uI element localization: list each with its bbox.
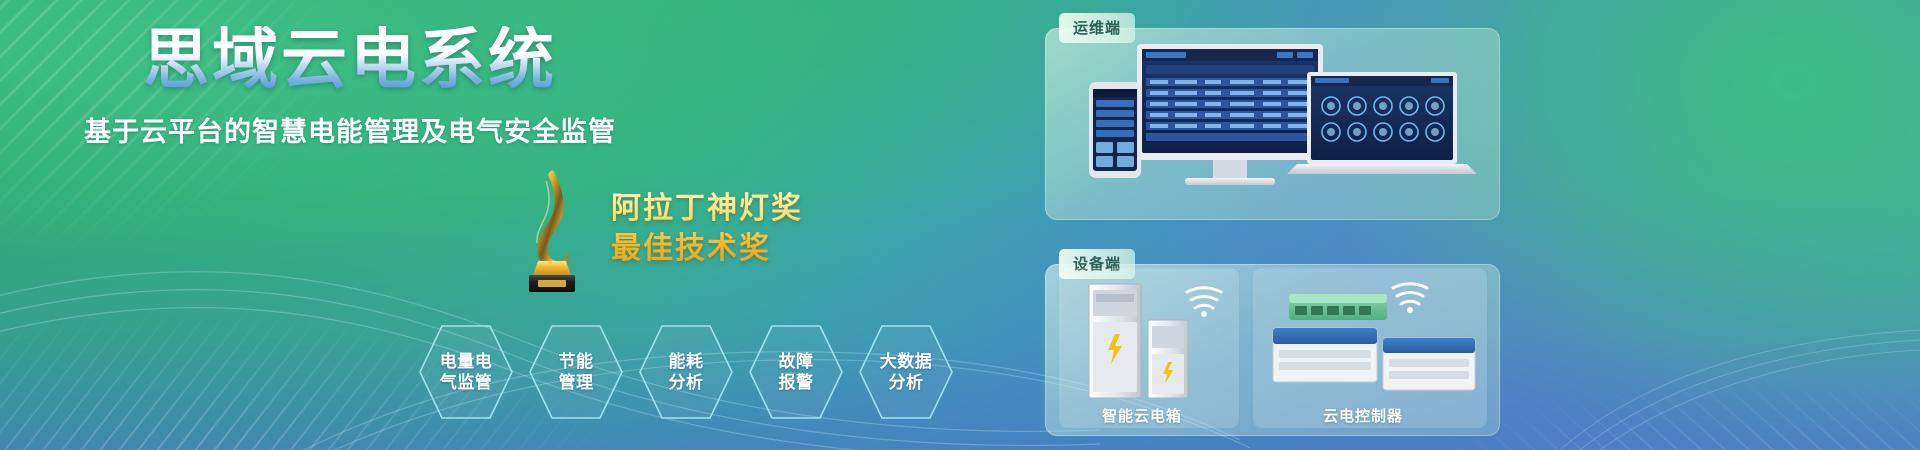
feature-badge-line-1: 电量电 bbox=[428, 351, 504, 372]
feature-badge[interactable]: 节能 管理 bbox=[528, 322, 624, 422]
ops-panel: 运维端 bbox=[1045, 28, 1500, 220]
award-line-1: 阿拉丁神灯奖 bbox=[611, 192, 803, 226]
feature-badge-label: 大数据 分析 bbox=[868, 351, 944, 394]
device-caption-cabinet: 智能云电箱 bbox=[1045, 405, 1239, 426]
award-line-2: 最佳技术奖 bbox=[611, 232, 803, 266]
desktop-monitor-icon bbox=[1137, 44, 1323, 185]
device-caption-controller: 云电控制器 bbox=[1239, 405, 1487, 426]
feature-badge[interactable]: 电量电 气监管 bbox=[418, 322, 514, 422]
feature-badge-line-1: 大数据 bbox=[868, 351, 944, 372]
feature-badge-line-2: 气监管 bbox=[428, 372, 504, 393]
device-panel: 设备端 bbox=[1045, 264, 1500, 436]
page-title: 思域云电系统 bbox=[0, 26, 1050, 92]
feature-badge-line-2: 管理 bbox=[538, 372, 614, 393]
feature-badge[interactable]: 故障 报警 bbox=[748, 322, 844, 422]
feature-badge-line-1: 节能 bbox=[538, 351, 614, 372]
feature-badge-list: 电量电 气监管 节能 管理 能耗 分析 bbox=[418, 322, 954, 422]
feature-badge-line-2: 分析 bbox=[868, 372, 944, 393]
page-subtitle: 基于云平台的智慧电能管理及电气安全监管 bbox=[0, 110, 1050, 149]
device-caption-list: 智能云电箱 云电控制器 bbox=[1045, 405, 1500, 426]
trophy-icon bbox=[515, 165, 589, 293]
feature-badge-label: 节能 管理 bbox=[538, 351, 614, 394]
feature-badge-line-1: 能耗 bbox=[648, 351, 724, 372]
promo-banner: 思域云电系统 基于云平台的智慧电能管理及电气安全监管 bbox=[0, 0, 1920, 450]
left-content: 思域云电系统 基于云平台的智慧电能管理及电气安全监管 bbox=[0, 0, 1050, 450]
device-panel-body: 智能云电箱 云电控制器 bbox=[1045, 264, 1500, 436]
feature-badge[interactable]: 能耗 分析 bbox=[638, 322, 734, 422]
laptop-icon bbox=[1287, 72, 1477, 174]
feature-badge[interactable]: 大数据 分析 bbox=[858, 322, 954, 422]
award-block: 阿拉丁神灯奖 最佳技术奖 bbox=[515, 165, 803, 293]
feature-badge-line-1: 故障 bbox=[758, 351, 834, 372]
award-text: 阿拉丁神灯奖 最佳技术奖 bbox=[611, 192, 803, 266]
feature-badge-line-2: 报警 bbox=[758, 372, 834, 393]
feature-badge-label: 能耗 分析 bbox=[648, 351, 724, 394]
right-content: 运维端 bbox=[1045, 14, 1500, 434]
ops-panel-body bbox=[1045, 28, 1500, 220]
feature-badge-label: 电量电 气监管 bbox=[428, 351, 504, 394]
smartphone-icon bbox=[1089, 82, 1141, 178]
feature-badge-line-2: 分析 bbox=[648, 372, 724, 393]
feature-badge-label: 故障 报警 bbox=[758, 351, 834, 394]
